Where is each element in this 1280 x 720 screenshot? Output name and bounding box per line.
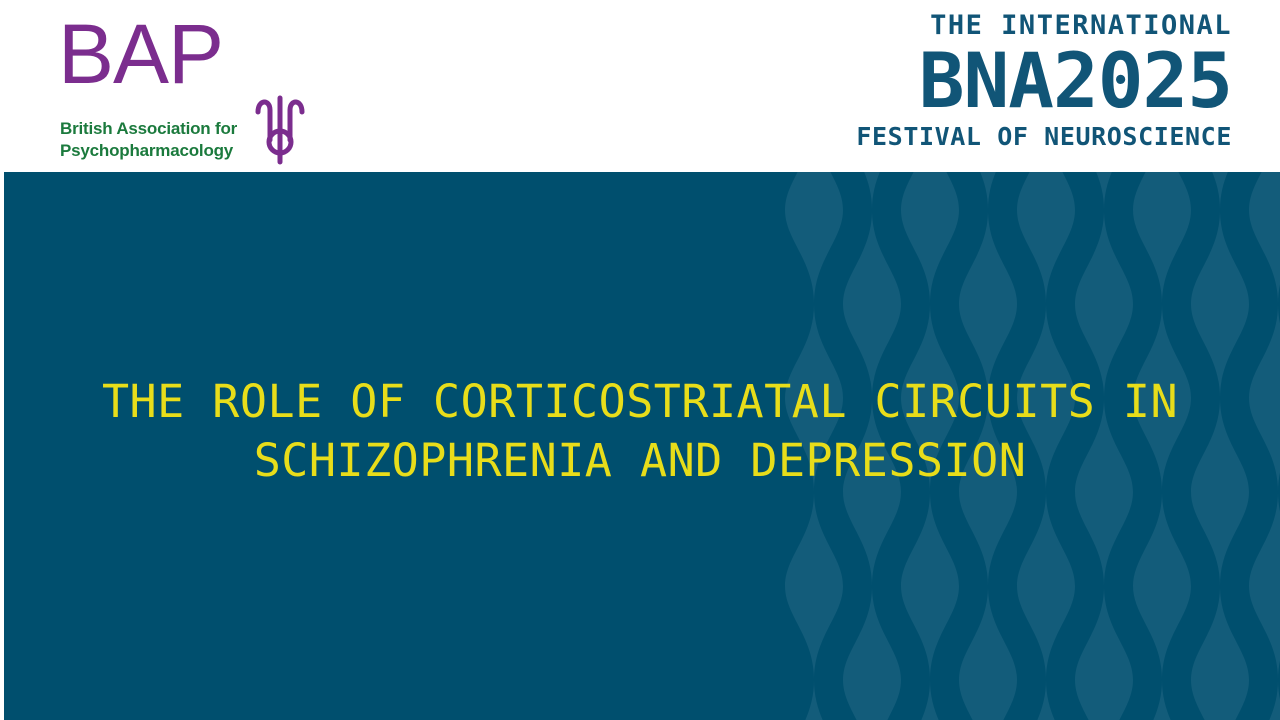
bap-subtitle-line-2: Psychopharmacology xyxy=(60,140,237,162)
presentation-slide: THE ROLE OF CORTICOSTRIATAL CIRCUITS IN … xyxy=(0,0,1280,720)
page-title: THE ROLE OF CORTICOSTRIATAL CIRCUITS IN … xyxy=(0,372,1280,491)
bna-logo-line-main: BNA2025 xyxy=(842,43,1232,119)
bap-subtitle: British Association for Psychopharmacolo… xyxy=(60,118,237,163)
title-line-1: THE ROLE OF CORTICOSTRIATAL CIRCUITS IN xyxy=(0,372,1280,431)
header-band: BAP British Association for Psychopharma… xyxy=(0,0,1280,172)
title-line-2: SCHIZOPHRENIA AND DEPRESSION xyxy=(0,431,1280,490)
bna-logo-line-bottom: FESTIVAL OF NEUROSCIENCE xyxy=(842,124,1232,149)
psi-caduceus-icon xyxy=(248,90,312,166)
bna-logo-line-top: THE INTERNATIONAL xyxy=(842,12,1232,39)
bna-2025-logo: THE INTERNATIONAL BNA2025 FESTIVAL OF NE… xyxy=(842,12,1232,160)
bap-logo: BAP British Association for Psychopharma… xyxy=(58,16,358,166)
bap-wordmark: BAP xyxy=(58,12,223,96)
slide-body: THE ROLE OF CORTICOSTRIATAL CIRCUITS IN … xyxy=(0,172,1280,720)
bap-subtitle-line-1: British Association for xyxy=(60,118,237,140)
